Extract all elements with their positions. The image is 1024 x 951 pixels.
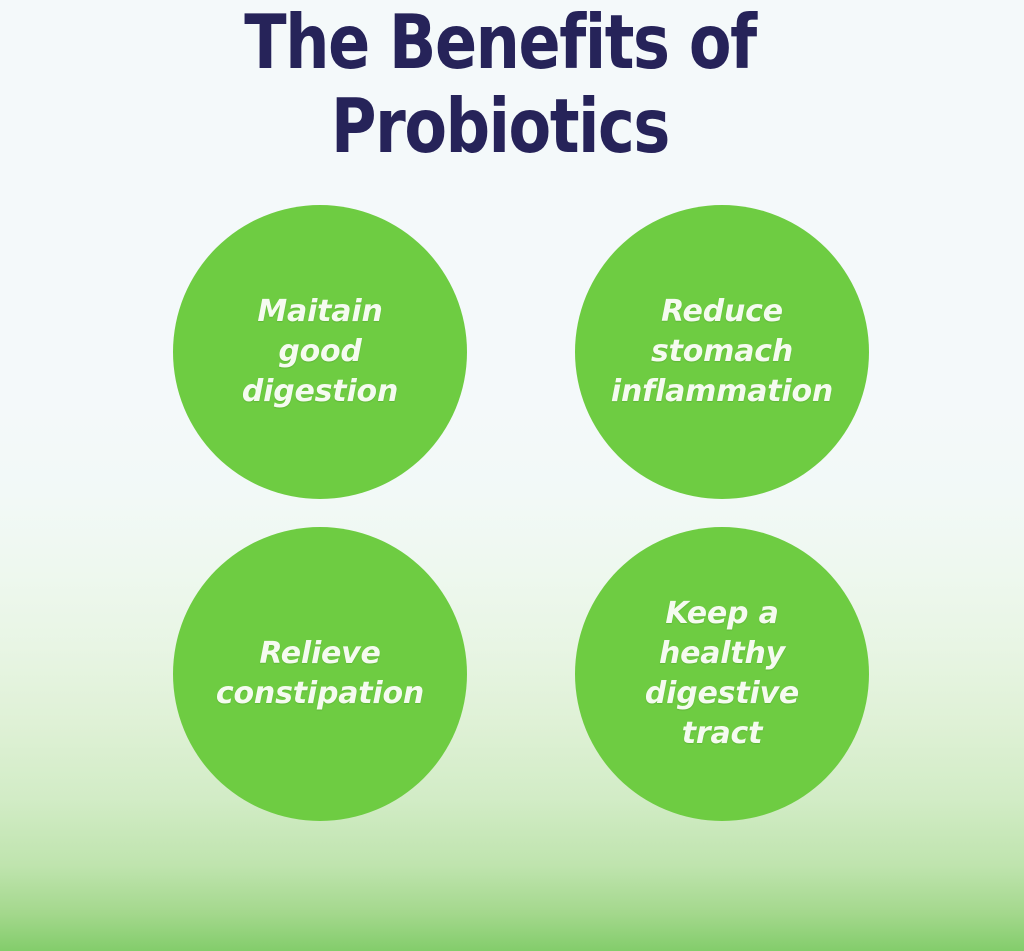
benefit-label: Relieve constipation [185, 634, 455, 714]
benefit-label: Maitain good digestion [185, 292, 455, 412]
page-title-line-2: Probiotics [40, 84, 960, 168]
benefit-label: Reduce stomach inflammation [587, 292, 857, 412]
infographic-poster: The Benefits of Probiotics Maitain good … [0, 0, 1024, 951]
benefit-circle-keep-healthy-digestive-tract: Keep a healthy digestive tract [575, 527, 869, 821]
benefit-circle-maintain-good-digestion: Maitain good digestion [173, 205, 467, 499]
page-title-line-1: The Benefits of [40, 0, 960, 84]
page-title: The Benefits of Probiotics [0, 0, 1000, 168]
benefit-label: Keep a healthy digestive tract [587, 594, 857, 754]
benefit-circle-relieve-constipation: Relieve constipation [173, 527, 467, 821]
benefit-circle-reduce-stomach-inflammation: Reduce stomach inflammation [575, 205, 869, 499]
